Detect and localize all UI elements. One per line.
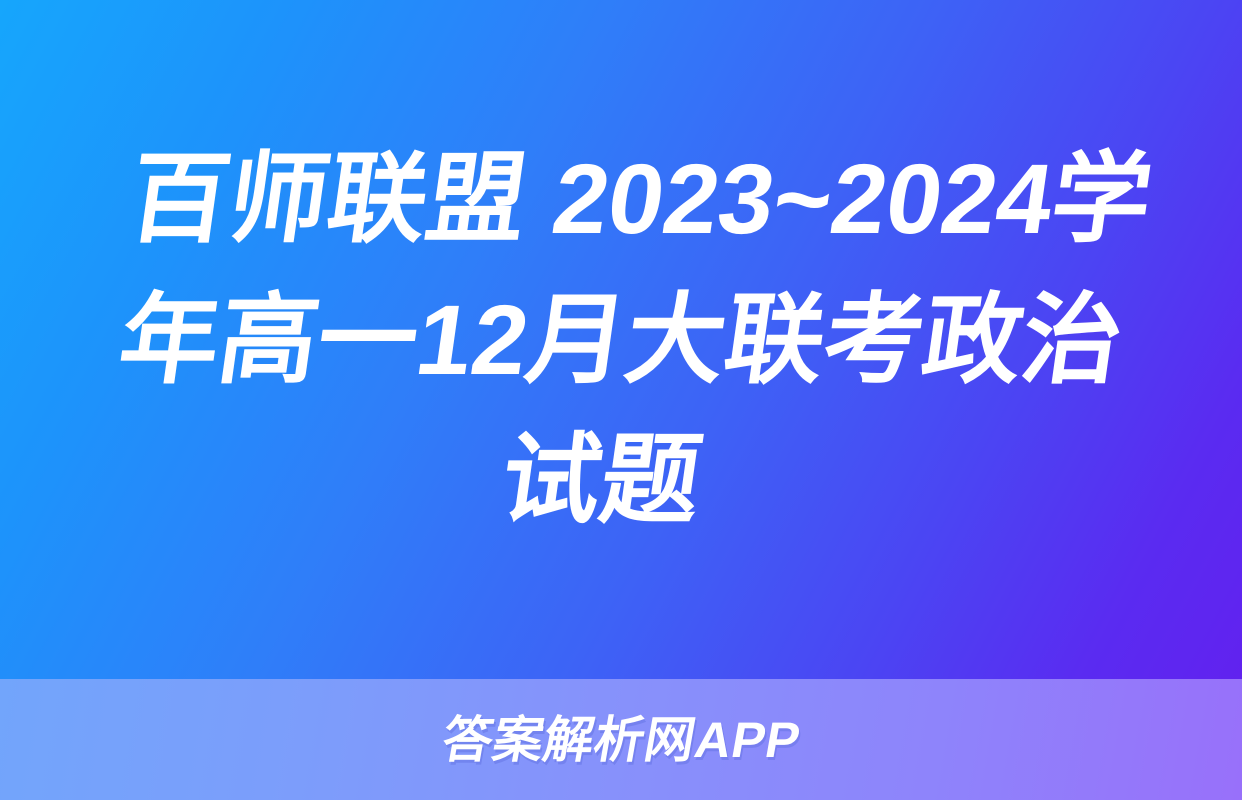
app-watermark-label: 答案解析网APP xyxy=(438,715,804,765)
watermark-band: 答案解析网APP xyxy=(0,679,1242,800)
page-title: 百师联盟 2023~2024学年高一12月大联考政治试题 xyxy=(42,129,1199,551)
exam-title-card: 百师联盟 2023~2024学年高一12月大联考政治试题 答案解析网APP xyxy=(0,0,1242,800)
hero-banner: 百师联盟 2023~2024学年高一12月大联考政治试题 xyxy=(0,0,1242,679)
